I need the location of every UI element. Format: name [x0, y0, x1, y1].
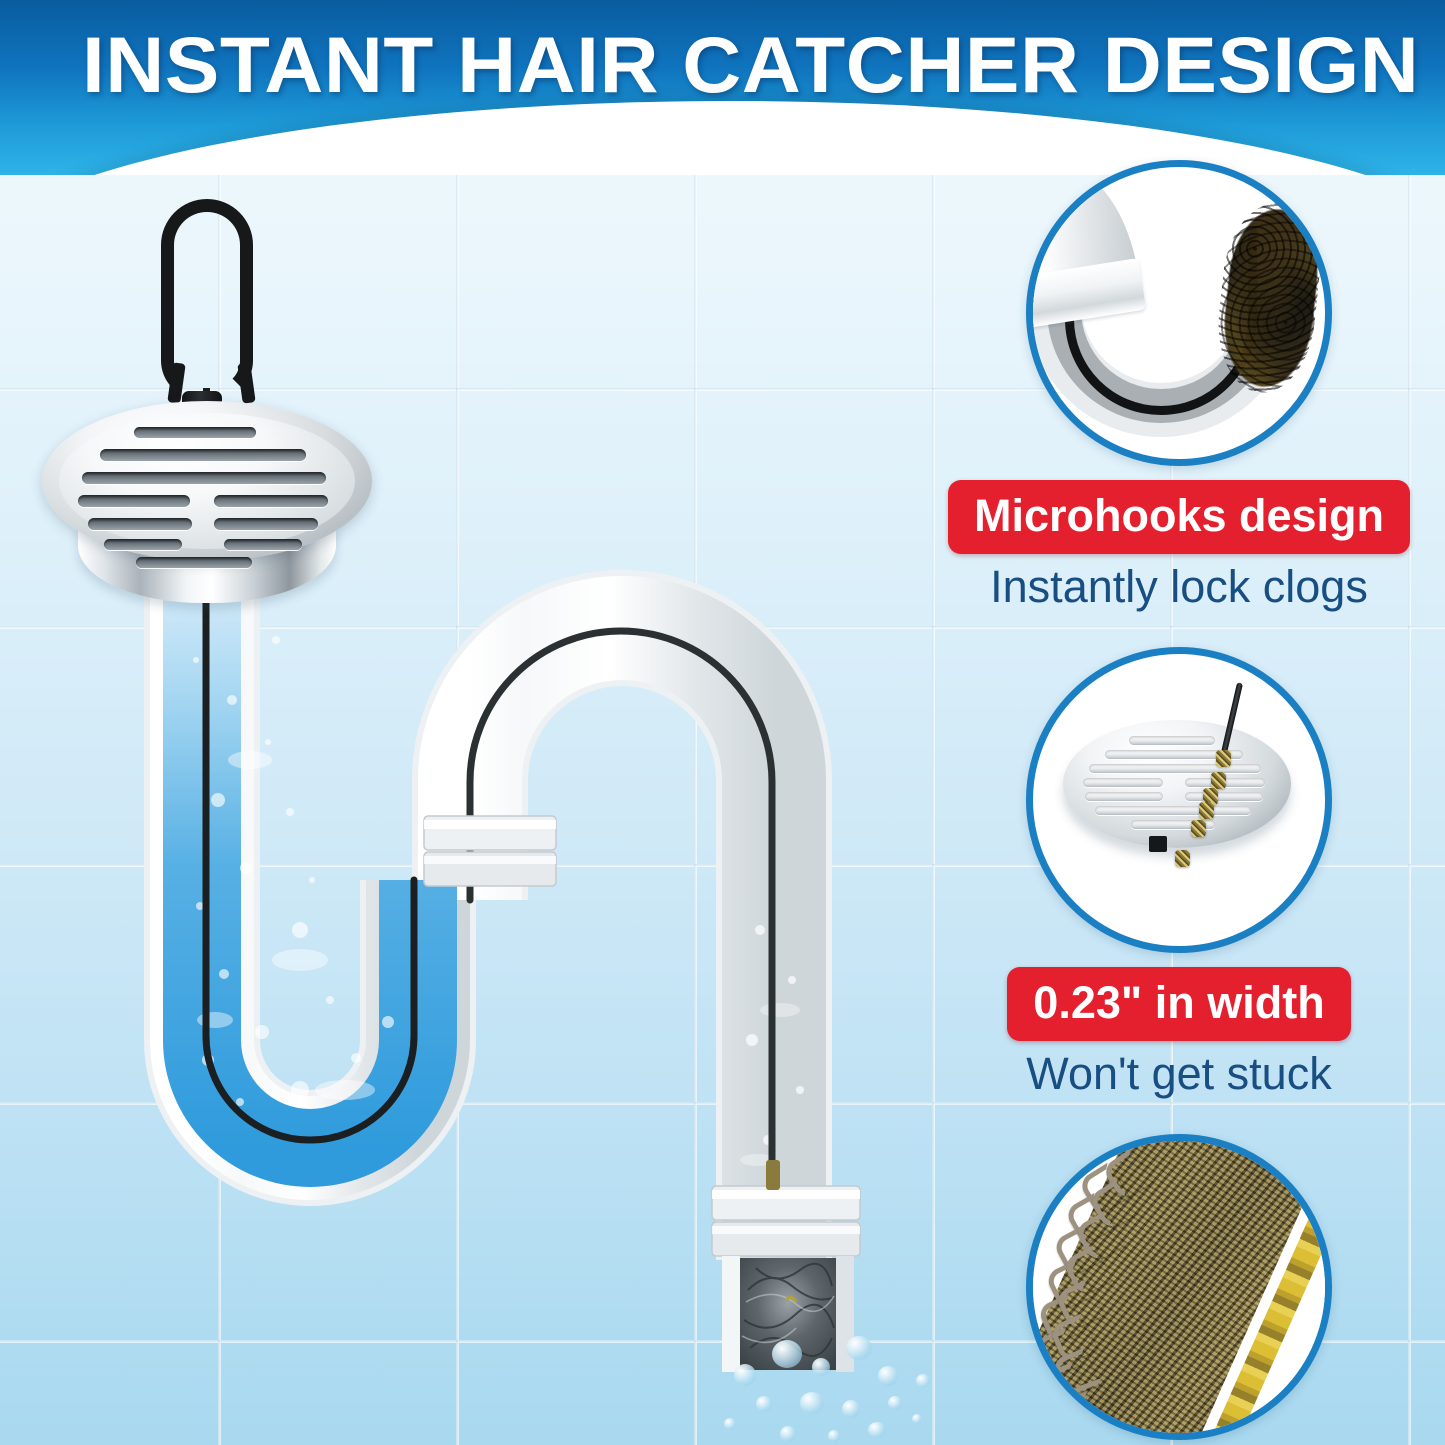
cover-slot [1089, 764, 1261, 773]
drain-cover-with-snake-photo [1026, 647, 1332, 953]
feature-badge: 0.23" in width [1007, 967, 1350, 1041]
feature-column: Microhooks design Instantly lock clogs [944, 160, 1414, 1445]
cover-slot [104, 539, 182, 550]
microhook-bit [1216, 750, 1231, 767]
cover-slot [136, 557, 252, 568]
feature-subtitle: Won't get stuck [944, 1048, 1414, 1100]
feature-sewing: Reinforced sewing Won't detach [944, 1134, 1414, 1445]
product-infographic: INSTANT HAIR CATCHER DESIGN [0, 0, 1445, 1445]
drain-cover-assembly [42, 195, 372, 585]
cover-slot [134, 427, 256, 438]
feature-subtitle: Instantly lock clogs [944, 561, 1414, 613]
cover-slot [1085, 792, 1163, 801]
cover-slot [214, 495, 328, 507]
cover-slot [88, 518, 192, 530]
feature-badge: Microhooks design [948, 480, 1410, 554]
cover-slot [78, 495, 190, 507]
pipe-cutaway-with-hair-clog-photo [1026, 160, 1332, 466]
cover-slot [1083, 778, 1163, 787]
cover-slot [1185, 792, 1263, 801]
loop-leg-right [237, 362, 255, 403]
feature-microhooks: Microhooks design Instantly lock clogs [944, 160, 1414, 613]
cover-slot [100, 449, 306, 461]
cover-slot [82, 472, 326, 484]
cord-exit [1149, 836, 1167, 852]
microhook-bit [1199, 802, 1214, 819]
microhook-tip [766, 1160, 780, 1190]
cover-slot [224, 539, 302, 550]
cover-slot [1129, 736, 1215, 745]
microhook-bit [1175, 850, 1190, 867]
cover-slot [214, 518, 318, 530]
microhook-bit [1191, 820, 1206, 837]
water-droplets [716, 1330, 976, 1445]
feature-width: 0.23" in width Won't get stuck [944, 647, 1414, 1100]
cover-slot [1095, 806, 1251, 815]
microhook-bit [1211, 772, 1226, 789]
microhook-strip-macro-photo [1026, 1134, 1332, 1440]
